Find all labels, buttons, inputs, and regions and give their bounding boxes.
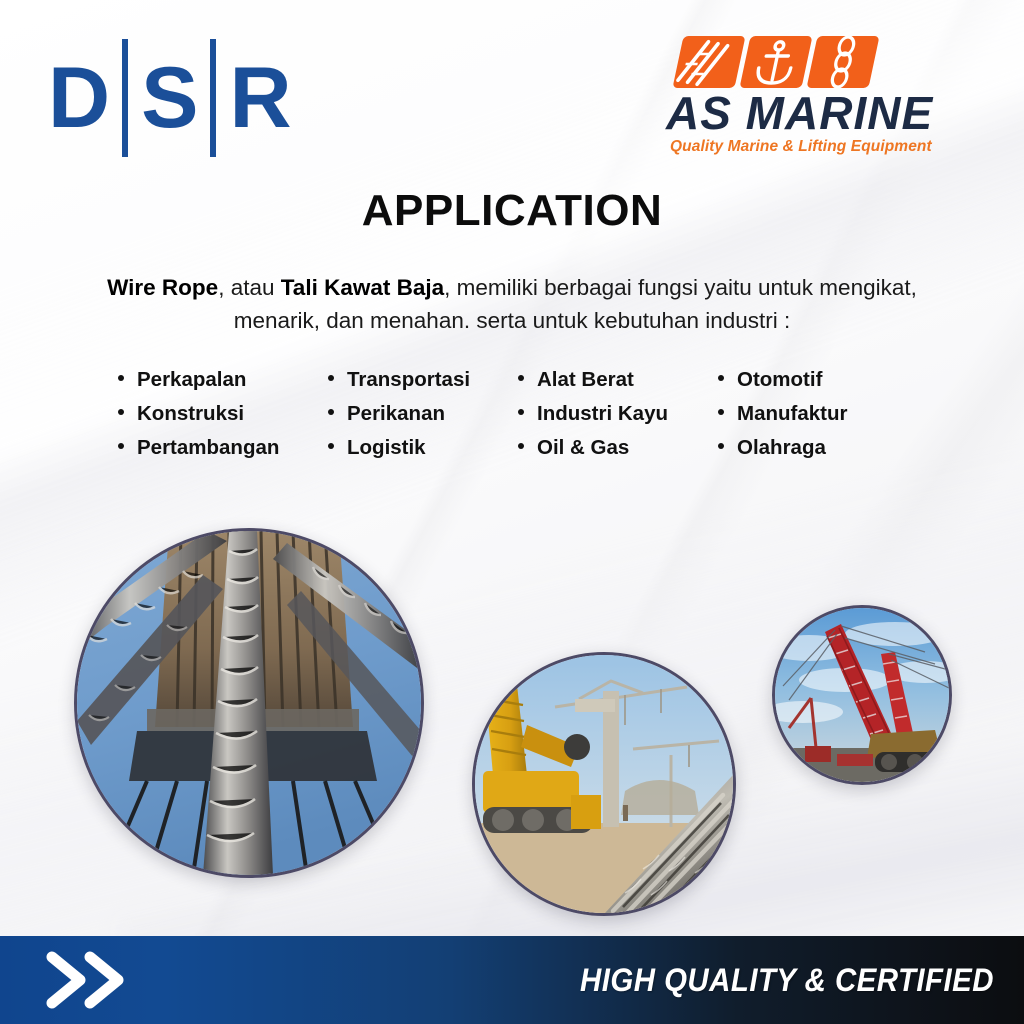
dsr-letter-r: R — [229, 55, 290, 141]
bullet-dot-icon — [118, 375, 124, 381]
as-marine-tagline: Quality Marine & Lifting Equipment — [670, 138, 996, 156]
chain-icon — [806, 36, 879, 88]
bullet-dot-icon — [718, 375, 724, 381]
intro-paragraph: Wire Rope, atau Tali Kawat Baja, memilik… — [72, 272, 952, 337]
list-item: Olahraga — [718, 436, 918, 470]
list-item: Transportasi — [328, 368, 518, 402]
list-item: Otomotif — [718, 368, 918, 402]
application-list: Perkapalan Konstruksi Pertambangan Trans… — [118, 368, 948, 470]
wire-rope-cables-photo — [74, 528, 424, 878]
footer-bar: HIGH QUALITY & CERTIFIED — [0, 936, 1024, 1024]
dsr-letter-d: D — [48, 55, 109, 141]
bullet-dot-icon — [518, 409, 524, 415]
list-item-label: Perikanan — [347, 402, 445, 426]
list-item: Oil & Gas — [518, 436, 718, 470]
wire-rope-icon — [672, 36, 745, 88]
bullet-dot-icon — [328, 409, 334, 415]
list-item: Logistik — [328, 436, 518, 470]
list-item-label: Konstruksi — [137, 402, 244, 426]
list-item-label: Logistik — [347, 436, 426, 460]
list-item-label: Oil & Gas — [537, 436, 629, 460]
bullet-dot-icon — [118, 409, 124, 415]
list-item-label: Manufaktur — [737, 402, 847, 426]
double-chevron-right-icon — [38, 949, 130, 1011]
list-item-label: Industri Kayu — [537, 402, 668, 426]
list-item-label: Alat Berat — [537, 368, 634, 392]
as-marine-brand-name: AS MARINE — [666, 90, 996, 136]
intro-bold-tali-kawat-baja: Tali Kawat Baja — [281, 275, 444, 300]
intro-connector: , atau — [218, 275, 281, 300]
list-item: Industri Kayu — [518, 402, 718, 436]
poster-canvas: D S R — [0, 0, 1024, 1024]
bullet-dot-icon — [518, 375, 524, 381]
dsr-logo: D S R — [48, 38, 291, 158]
anchor-icon — [739, 36, 812, 88]
red-crawler-crane-photo — [772, 605, 952, 785]
as-marine-logo: AS MARINE Quality Marine & Lifting Equip… — [666, 36, 996, 156]
list-item: Perikanan — [328, 402, 518, 436]
list-item: Manufaktur — [718, 402, 918, 436]
bullet-dot-icon — [718, 409, 724, 415]
list-item-label: Transportasi — [347, 368, 470, 392]
bullet-dot-icon — [718, 443, 724, 449]
construction-crane-rope-photo — [472, 652, 736, 916]
dsr-divider-2 — [210, 39, 216, 157]
page-title: APPLICATION — [0, 186, 1024, 236]
list-item: Perkapalan — [118, 368, 328, 402]
dsr-letter-s: S — [141, 55, 197, 141]
bullet-dot-icon — [518, 443, 524, 449]
as-marine-tile-group — [678, 36, 996, 88]
list-item: Pertambangan — [118, 436, 328, 470]
bullet-dot-icon — [328, 443, 334, 449]
bullet-column-3: Alat Berat Industri Kayu Oil & Gas — [518, 368, 718, 470]
list-item-label: Perkapalan — [137, 368, 246, 392]
list-item-label: Pertambangan — [137, 436, 279, 460]
list-item: Alat Berat — [518, 368, 718, 402]
bullet-column-2: Transportasi Perikanan Logistik — [328, 368, 518, 470]
dsr-divider-1 — [122, 39, 128, 157]
bullet-dot-icon — [328, 375, 334, 381]
bullet-column-4: Otomotif Manufaktur Olahraga — [718, 368, 918, 470]
list-item-label: Olahraga — [737, 436, 826, 460]
bullet-column-1: Perkapalan Konstruksi Pertambangan — [118, 368, 328, 470]
bullet-dot-icon — [118, 443, 124, 449]
intro-bold-wire-rope: Wire Rope — [107, 275, 218, 300]
list-item: Konstruksi — [118, 402, 328, 436]
footer-tagline: HIGH QUALITY & CERTIFIED — [580, 962, 994, 999]
list-item-label: Otomotif — [737, 368, 822, 392]
